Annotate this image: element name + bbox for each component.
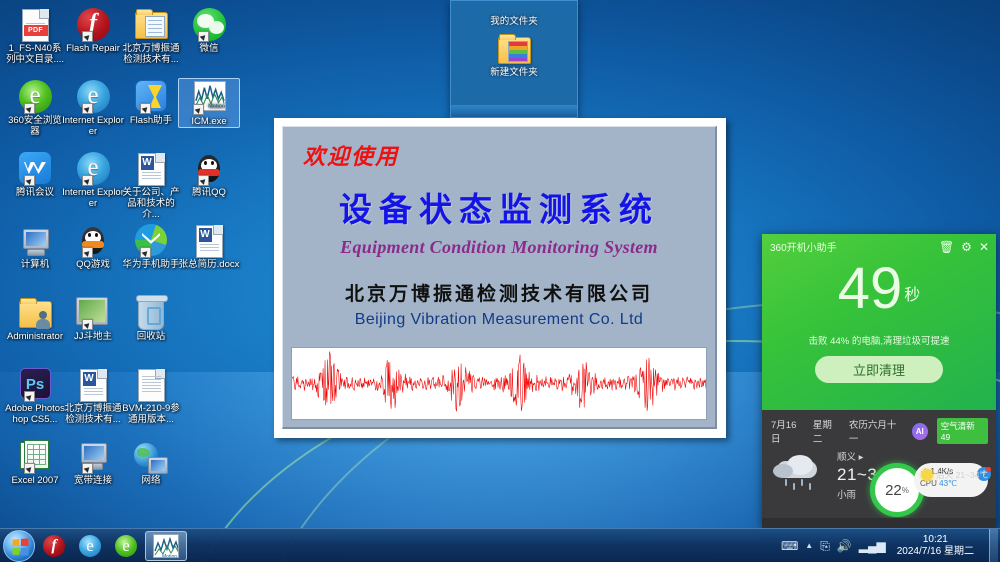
desktop-icon-label: BVM-210-9参通用版本...	[120, 403, 182, 425]
desktop-icon-label: JJ斗地主	[62, 331, 124, 342]
clock[interactable]: 10:21 2024/7/16 星期二	[893, 534, 980, 558]
desktop-icon-label: 关于公司、产品和技术的介...	[120, 187, 182, 220]
desktop-icon-resume-docx[interactable]: W 张总简历.docx	[178, 222, 240, 270]
photoshop-icon	[4, 366, 66, 402]
ai-badge[interactable]: AI	[912, 423, 928, 440]
desktop-icon-label: 华为手机助手	[120, 259, 182, 270]
desktop-icon-label: Adobe Photoshop CS5...	[4, 403, 66, 425]
qq-games-icon	[62, 222, 124, 258]
close-icon[interactable]: ✕	[979, 241, 989, 253]
desktop-icon-label: 微信	[178, 43, 240, 54]
show-hidden-icons-arrow[interactable]: ▲	[805, 541, 813, 550]
taskbar-flash-repair[interactable]	[37, 531, 71, 561]
desktop-icon-label: Flash Repair	[62, 43, 124, 54]
desktop-icon-qq-games[interactable]: QQ游戏	[62, 222, 124, 270]
word-document-icon: W	[62, 366, 124, 402]
desktop-icon-label: 北京万博振通检测技术有...	[62, 403, 124, 425]
desktop-icon-huawei-assistant[interactable]: 华为手机助手	[120, 222, 182, 270]
boot-subtitle: 击败 44% 的电脑,清理垃圾可提速	[762, 333, 996, 347]
desktop-icon-computer[interactable]: 计算机	[4, 222, 66, 270]
desktop-icon-icm-exe[interactable]: Motion ICM.exe	[178, 78, 240, 128]
gear-icon[interactable]: ⚙	[961, 241, 972, 253]
date-line: 7月16日 星期二 农历六月十一 AI 空气清新 49	[762, 410, 996, 445]
tomorrow-text: 后天 21~34℃	[936, 469, 988, 481]
recycle-bin-icon	[120, 294, 182, 330]
waveform-plot	[292, 348, 706, 419]
company-name-english: Beijing Vibration Measurement Co. Ltd	[283, 311, 715, 329]
date-text: 7月16日	[771, 417, 804, 445]
360-widget-footer	[762, 518, 996, 528]
folder-popup-window[interactable]: 我的文件夹 新建文件夹	[450, 0, 578, 118]
flash-assistant-icon	[120, 78, 182, 114]
word-document-icon: W	[120, 150, 182, 186]
desktop-icon-label: 张总简历.docx	[178, 259, 240, 270]
welcome-text: 欢迎使用	[303, 139, 399, 171]
internet-explorer-icon	[79, 535, 101, 557]
vibration-waveform-chart	[291, 347, 707, 420]
flash-repair-icon	[62, 6, 124, 42]
show-desktop-button[interactable]	[989, 529, 998, 562]
clock-date: 2024/7/16 星期二	[897, 546, 974, 558]
desktop-icon-label: 计算机	[4, 259, 66, 270]
safely-remove-hardware-icon[interactable]: ⎘	[820, 540, 830, 552]
360-widget-actions: 🗑 ⚙ ✕	[939, 241, 989, 253]
desktop-icon-flash-repair[interactable]: Flash Repair	[62, 6, 124, 54]
document-icon	[120, 366, 182, 402]
trash-icon[interactable]: 🗑	[939, 241, 954, 253]
desktop-icon-label: 宽带连接	[62, 475, 124, 486]
desktop-icon-excel-2007[interactable]: Excel 2007	[4, 438, 66, 486]
360-widget-weather-panel: 7月16日 星期二 农历六月十一 AI 空气清新 49 顺义 ▸ 21~31 小…	[762, 410, 996, 528]
desktop: PDF 1_FS-N40系列中文目录.... Flash Repair 北京万博…	[0, 0, 1000, 562]
jj-landlord-icon	[62, 294, 124, 330]
desktop-icon-internet-explorer-2[interactable]: Internet Explorer	[62, 150, 124, 209]
clock-time: 10:21	[897, 534, 974, 546]
user-folder-icon	[4, 294, 66, 330]
desktop-icon-wechat[interactable]: 微信	[178, 6, 240, 54]
pdf-document-icon: PDF	[4, 6, 66, 42]
taskbar: Motion ⌨ ▲ ⎘ 🔊 ▂▄▆ 10:21 2024/7/16 星期二	[0, 528, 1000, 562]
360-widget-title: 360开机小助手	[770, 239, 837, 254]
boot-seconds: 49	[838, 256, 903, 321]
desktop-icon-label: Internet Explorer	[62, 187, 124, 209]
word-document-icon: W	[178, 222, 240, 258]
desktop-icon-tencent-qq[interactable]: 腾讯QQ	[178, 150, 240, 198]
folder-popup-item-label: 新建文件夹	[490, 67, 538, 78]
desktop-icon-label: QQ游戏	[62, 259, 124, 270]
computer-icon	[4, 222, 66, 258]
desktop-icon-company-folder[interactable]: 北京万博振通检测技术有...	[120, 6, 182, 65]
input-method-icon[interactable]: ⌨	[781, 540, 798, 552]
desktop-icon-label: Administrator	[4, 331, 66, 342]
broadband-connection-icon	[62, 438, 124, 474]
company-name-chinese: 北京万博振通检测技术有限公司	[283, 279, 715, 306]
sun-icon	[921, 469, 933, 481]
network-icon[interactable]: ▂▄▆	[859, 540, 886, 552]
desktop-icon-tencent-meeting[interactable]: 腾讯会议	[4, 150, 66, 198]
desktop-icon-internet-explorer[interactable]: Internet Explorer	[62, 78, 124, 137]
app-title-english: Equipment Condition Monitoring System	[283, 237, 715, 258]
360-widget-header: 360开机小助手 🗑 ⚙ ✕	[762, 234, 996, 254]
desktop-icon-label: 回收站	[120, 331, 182, 342]
desktop-icon-label: 360安全浏览器	[4, 115, 66, 137]
desktop-icon-label: 腾讯QQ	[178, 187, 240, 198]
360-browser-icon	[4, 78, 66, 114]
svg-text:Motion: Motion	[208, 103, 225, 109]
desktop-icon-label: 腾讯会议	[4, 187, 66, 198]
desktop-icon-label: ICM.exe	[179, 116, 239, 127]
clean-now-button[interactable]: 立即清理	[815, 356, 943, 383]
icm-waveform-icon: Motion	[179, 79, 241, 115]
qq-penguin-icon	[178, 150, 240, 186]
360-widget-green-panel: 360开机小助手 🗑 ⚙ ✕ 49秒 击败 44% 的电脑,清理垃圾可提速 立即…	[762, 234, 996, 410]
city-name[interactable]: 顺义 ▸	[837, 449, 887, 463]
boot-seconds-unit: 秒	[904, 287, 920, 304]
desktop-icon-grid: PDF 1_FS-N40系列中文目录.... Flash Repair 北京万博…	[0, 0, 250, 520]
desktop-icon-broadband-connection[interactable]: 宽带连接	[62, 438, 124, 486]
rain-cloud-icon	[771, 453, 833, 499]
desktop-icon-jj-landlord[interactable]: JJ斗地主	[62, 294, 124, 342]
app-title-chinese: 设备状态监测系统	[283, 183, 715, 231]
desktop-icon-label: Flash助手	[120, 115, 182, 126]
weekday-text: 星期二	[813, 417, 840, 445]
cpu-usage-value: 22	[885, 482, 902, 499]
system-tray: ⌨ ▲ ⎘ 🔊 ▂▄▆ 10:21 2024/7/16 星期二	[781, 529, 1000, 562]
icm-waveform-icon: Motion	[153, 534, 179, 558]
folder-popup-item[interactable]: 新建文件夹	[451, 33, 577, 78]
tencent-meeting-icon	[4, 150, 66, 186]
desktop-icon-company-doc[interactable]: W 北京万博振通检测技术有...	[62, 366, 124, 425]
folder-colorful-icon	[451, 33, 577, 64]
desktop-icon-label: 网络	[120, 475, 182, 486]
boot-time-value: 49秒	[762, 260, 996, 325]
internet-explorer-icon	[62, 78, 124, 114]
splash-panel: 欢迎使用 设备状态监测系统 Equipment Condition Monito…	[282, 126, 717, 429]
desktop-icon-label: Internet Explorer	[62, 115, 124, 137]
taskbar-internet-explorer[interactable]	[73, 531, 107, 561]
lunar-date-text: 农历六月十一	[849, 417, 903, 445]
desktop-icon-pdf-catalog[interactable]: PDF 1_FS-N40系列中文目录....	[4, 6, 66, 65]
network-icon	[120, 438, 182, 474]
volume-icon[interactable]: 🔊	[837, 540, 852, 552]
tomorrow-forecast: 后天 21~34℃	[921, 469, 988, 481]
360-browser-icon	[115, 535, 137, 557]
internet-explorer-icon	[62, 150, 124, 186]
splash-window[interactable]: 欢迎使用 设备状态监测系统 Equipment Condition Monito…	[274, 118, 726, 438]
desktop-icon-360-browser[interactable]: 360安全浏览器	[4, 78, 66, 137]
desktop-icon-label: 北京万博振通检测技术有...	[120, 43, 182, 65]
desktop-icon-label: 1_FS-N40系列中文目录....	[4, 43, 66, 65]
wechat-icon	[178, 6, 240, 42]
360-boot-assistant-widget[interactable]: 360开机小助手 🗑 ⚙ ✕ 49秒 击败 44% 的电脑,清理垃圾可提速 立即…	[762, 234, 996, 528]
svg-text:Motion: Motion	[162, 554, 177, 558]
desktop-icon-photoshop[interactable]: Adobe Photoshop CS5...	[4, 366, 66, 425]
desktop-icon-label: Excel 2007	[4, 475, 66, 486]
desktop-icon-flash-assistant[interactable]: Flash助手	[120, 78, 182, 126]
desktop-icon-administrator[interactable]: Administrator	[4, 294, 66, 342]
desktop-icon-network[interactable]: 网络	[120, 438, 182, 486]
folder-icon	[120, 6, 182, 42]
huawei-assistant-icon	[120, 222, 182, 258]
start-button[interactable]	[3, 530, 35, 562]
folder-popup-bottom-bar	[451, 105, 577, 117]
weather-row: 顺义 ▸ 21~31 小雨 22% ✓ 1.4K/s CPU 43℃	[762, 445, 996, 501]
taskbar-360-browser[interactable]	[109, 531, 143, 561]
taskbar-icm[interactable]: Motion	[145, 531, 187, 561]
desktop-icon-bvm-doc[interactable]: BVM-210-9参通用版本...	[120, 366, 182, 425]
excel-icon	[4, 438, 66, 474]
folder-popup-title: 我的文件夹	[451, 1, 577, 27]
cpu-usage-unit: %	[902, 486, 909, 495]
flash-icon	[43, 535, 65, 557]
desktop-icon-recycle-bin[interactable]: 回收站	[120, 294, 182, 342]
air-quality-badge: 空气清新 49	[937, 418, 988, 444]
desktop-icon-about-company-doc[interactable]: W 关于公司、产品和技术的介...	[120, 150, 182, 220]
